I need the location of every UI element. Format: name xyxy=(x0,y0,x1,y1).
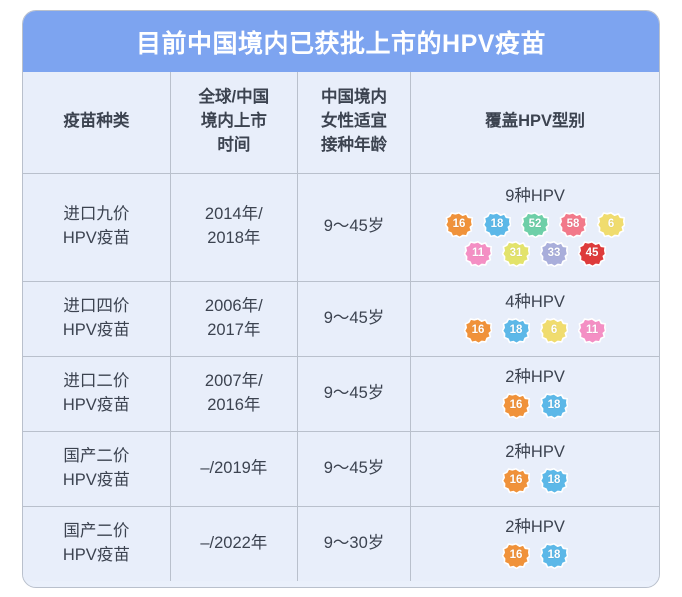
hpv-type-number: 6 xyxy=(608,219,614,231)
vaccine-kind-line-2: HPV疫苗 xyxy=(25,469,168,493)
column-header-types: 覆盖HPV型别 xyxy=(411,72,659,173)
vaccine-kind-line-2: HPV疫苗 xyxy=(25,319,168,343)
cell-vaccine-kind: 进口四价 HPV疫苗 xyxy=(23,281,170,356)
hpv-type-badge-11: 11 xyxy=(578,318,606,344)
table-row: 国产二价 HPV疫苗 –/2019年 9～45岁 2种HPV 1618 xyxy=(23,431,659,506)
launch-time-line-1: 2014年/ xyxy=(173,203,295,227)
hpv-type-badge-18: 18 xyxy=(483,212,511,238)
hpv-type-number: 31 xyxy=(510,248,523,260)
launch-time-line-1: 2006年/ xyxy=(173,295,295,319)
hpv-type-number: 33 xyxy=(548,248,561,260)
hpv-types-label: 9种HPV xyxy=(505,187,565,207)
cell-age-range: 9～30岁 xyxy=(297,506,410,581)
hpv-type-badge-45: 45 xyxy=(578,241,606,267)
column-header-age: 中国境内 女性适宜 接种年龄 xyxy=(297,72,410,173)
hpv-type-badge-6: 6 xyxy=(540,318,568,344)
hpv-type-badge-16: 16 xyxy=(464,318,492,344)
cell-launch-time: –/2022年 xyxy=(170,506,297,581)
launch-time-line-2: 2018年 xyxy=(173,227,295,251)
hpv-type-badge-18: 18 xyxy=(540,468,568,494)
hpv-badge-group: 1618611 xyxy=(464,318,606,344)
launch-time-line-1: –/2019年 xyxy=(173,457,295,481)
cell-hpv-types: 4种HPV 1618611 xyxy=(411,281,659,356)
vaccine-kind-line-1: 进口二价 xyxy=(25,370,168,394)
cell-hpv-types: 9种HPV 16185258611313345 xyxy=(411,173,659,281)
hpv-type-number: 18 xyxy=(548,475,561,487)
vaccine-kind-line-1: 进口四价 xyxy=(25,295,168,319)
column-header-kind-line-1: 疫苗种类 xyxy=(25,110,168,134)
cell-age-range: 9～45岁 xyxy=(297,356,410,431)
age-range-value: 9～45岁 xyxy=(324,384,385,402)
table-title-bar: 目前中国境内已获批上市的HPV疫苗 xyxy=(23,11,659,72)
hpv-type-badge-16: 16 xyxy=(502,468,530,494)
age-range-value: 9～45岁 xyxy=(324,309,385,327)
cell-launch-time: 2014年/ 2018年 xyxy=(170,173,297,281)
page-title: 目前中国境内已获批上市的HPV疫苗 xyxy=(136,24,546,60)
hpv-type-badge-18: 18 xyxy=(540,543,568,569)
hpv-type-number: 16 xyxy=(510,550,523,562)
age-range-value: 9～30岁 xyxy=(324,534,385,552)
age-range-value: 9～45岁 xyxy=(324,459,385,477)
table-header-row: 疫苗种类 全球/中国 境内上市 时间 中国境内 女性适宜 接种年龄 覆盖HPV型… xyxy=(23,72,659,173)
hpv-type-number: 11 xyxy=(586,325,598,337)
column-header-age-line-3: 接种年龄 xyxy=(300,134,408,158)
hpv-type-number: 18 xyxy=(491,219,504,231)
vaccine-kind-line-1: 国产二价 xyxy=(25,445,168,469)
cell-vaccine-kind: 国产二价 HPV疫苗 xyxy=(23,431,170,506)
hpv-type-number: 52 xyxy=(529,219,542,231)
hpv-type-number: 6 xyxy=(551,325,557,337)
table-row: 进口二价 HPV疫苗 2007年/ 2016年 9～45岁 2种HPV 1618 xyxy=(23,356,659,431)
hpv-types-wrap: 2种HPV 1618 xyxy=(413,518,657,569)
hpv-type-badge-6: 6 xyxy=(597,212,625,238)
launch-time-line-2: 2016年 xyxy=(173,394,295,418)
cell-launch-time: 2007年/ 2016年 xyxy=(170,356,297,431)
hpv-type-number: 16 xyxy=(472,325,485,337)
infographic-page: 目前中国境内已获批上市的HPV疫苗 疫苗种类 全球/中国 境内上市 时间 中国境… xyxy=(0,0,682,597)
hpv-badge-group: 16185258611313345 xyxy=(445,212,625,267)
hpv-badge-line: 11313345 xyxy=(464,241,606,267)
hpv-badge-group: 1618 xyxy=(502,543,568,569)
column-header-time: 全球/中国 境内上市 时间 xyxy=(170,72,297,173)
table-row: 进口九价 HPV疫苗 2014年/ 2018年 9～45岁 9种HPV 1618… xyxy=(23,173,659,281)
hpv-type-number: 58 xyxy=(567,219,580,231)
hpv-type-badge-16: 16 xyxy=(502,393,530,419)
cell-age-range: 9～45岁 xyxy=(297,173,410,281)
vaccine-kind-line-1: 国产二价 xyxy=(25,520,168,544)
hpv-badge-group: 1618 xyxy=(502,393,568,419)
vaccine-table: 疫苗种类 全球/中国 境内上市 时间 中国境内 女性适宜 接种年龄 覆盖HPV型… xyxy=(23,72,659,581)
column-header-time-line-2: 境内上市 xyxy=(173,110,295,134)
vaccine-kind-line-2: HPV疫苗 xyxy=(25,227,168,251)
cell-age-range: 9～45岁 xyxy=(297,281,410,356)
hpv-type-badge-52: 52 xyxy=(521,212,549,238)
hpv-badge-line: 1618 xyxy=(502,393,568,419)
hpv-type-badge-18: 18 xyxy=(540,393,568,419)
hpv-types-label: 4种HPV xyxy=(505,293,565,313)
launch-time-line-1: –/2022年 xyxy=(173,532,295,556)
cell-launch-time: 2006年/ 2017年 xyxy=(170,281,297,356)
hpv-badge-line: 1618611 xyxy=(464,318,606,344)
hpv-badge-line: 161852586 xyxy=(445,212,625,238)
hpv-type-badge-16: 16 xyxy=(445,212,473,238)
cell-hpv-types: 2种HPV 1618 xyxy=(411,356,659,431)
hpv-type-number: 16 xyxy=(510,400,523,412)
table-row: 国产二价 HPV疫苗 –/2022年 9～30岁 2种HPV 1618 xyxy=(23,506,659,581)
hpv-types-wrap: 2种HPV 1618 xyxy=(413,443,657,494)
age-range-value: 9～45岁 xyxy=(324,217,385,235)
hpv-type-badge-58: 58 xyxy=(559,212,587,238)
hpv-badge-group: 1618 xyxy=(502,468,568,494)
column-header-age-line-1: 中国境内 xyxy=(300,86,408,110)
hpv-type-badge-31: 31 xyxy=(502,241,530,267)
cell-vaccine-kind: 国产二价 HPV疫苗 xyxy=(23,506,170,581)
column-header-types-line-1: 覆盖HPV型别 xyxy=(413,110,657,134)
hpv-type-number: 18 xyxy=(548,400,561,412)
hpv-type-number: 11 xyxy=(472,248,484,260)
cell-age-range: 9～45岁 xyxy=(297,431,410,506)
hpv-types-wrap: 4种HPV 1618611 xyxy=(413,293,657,344)
hpv-type-badge-16: 16 xyxy=(502,543,530,569)
column-header-age-line-2: 女性适宜 xyxy=(300,110,408,134)
cell-launch-time: –/2019年 xyxy=(170,431,297,506)
column-header-time-line-3: 时间 xyxy=(173,134,295,158)
hpv-types-label: 2种HPV xyxy=(505,518,565,538)
hpv-types-label: 2种HPV xyxy=(505,443,565,463)
vaccine-kind-line-2: HPV疫苗 xyxy=(25,394,168,418)
vaccine-table-card: 目前中国境内已获批上市的HPV疫苗 疫苗种类 全球/中国 境内上市 时间 中国境… xyxy=(22,10,660,588)
hpv-type-badge-18: 18 xyxy=(502,318,530,344)
hpv-badge-line: 1618 xyxy=(502,468,568,494)
hpv-type-number: 18 xyxy=(548,550,561,562)
hpv-type-number: 18 xyxy=(510,325,523,337)
cell-hpv-types: 2种HPV 1618 xyxy=(411,506,659,581)
column-header-kind: 疫苗种类 xyxy=(23,72,170,173)
cell-hpv-types: 2种HPV 1618 xyxy=(411,431,659,506)
hpv-types-wrap: 9种HPV 16185258611313345 xyxy=(413,187,657,267)
table-row: 进口四价 HPV疫苗 2006年/ 2017年 9～45岁 4种HPV 1618… xyxy=(23,281,659,356)
hpv-type-badge-11: 11 xyxy=(464,241,492,267)
hpv-type-badge-33: 33 xyxy=(540,241,568,267)
launch-time-line-1: 2007年/ xyxy=(173,370,295,394)
hpv-type-number: 16 xyxy=(453,219,466,231)
vaccine-kind-line-1: 进口九价 xyxy=(25,203,168,227)
hpv-type-number: 16 xyxy=(510,475,523,487)
hpv-type-number: 45 xyxy=(586,248,599,260)
cell-vaccine-kind: 进口九价 HPV疫苗 xyxy=(23,173,170,281)
hpv-badge-line: 1618 xyxy=(502,543,568,569)
column-header-time-line-1: 全球/中国 xyxy=(173,86,295,110)
cell-vaccine-kind: 进口二价 HPV疫苗 xyxy=(23,356,170,431)
launch-time-line-2: 2017年 xyxy=(173,319,295,343)
hpv-types-wrap: 2种HPV 1618 xyxy=(413,368,657,419)
vaccine-kind-line-2: HPV疫苗 xyxy=(25,544,168,568)
hpv-types-label: 2种HPV xyxy=(505,368,565,388)
